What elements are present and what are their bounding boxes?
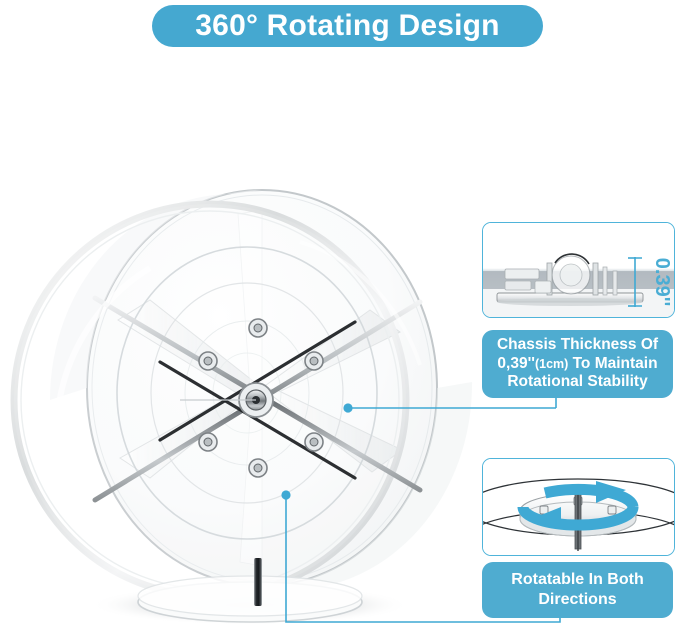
callout-chassis-line-3: Rotational Stability	[507, 373, 647, 390]
infographic-canvas: 360° Rotating Design	[0, 0, 679, 629]
callout-chassis-line-1: Chassis Thickness Of	[497, 336, 658, 353]
callout-chassis-thickness: Chassis Thickness Of 0,39''(1cm) To Main…	[482, 330, 673, 398]
inset-chassis-thickness-photo: 0.39''	[482, 222, 675, 318]
page-title: 360° Rotating Design	[195, 11, 499, 41]
callout-chassis-line-2-main: 0,39''	[497, 355, 535, 372]
callout-chassis-thickness-text: Chassis Thickness Of 0,39''(1cm) To Main…	[497, 336, 658, 393]
inset-rotation-direction-diagram	[482, 458, 675, 556]
callout-rotation-line-1: Rotatable In Both	[511, 571, 643, 588]
product-image	[0, 150, 480, 629]
title-banner: 360° Rotating Design	[152, 5, 543, 47]
callout-rotation-line-2: Directions	[538, 591, 616, 608]
dimension-label-0-39in: 0.39''	[651, 258, 673, 306]
callout-chassis-line-2-unit: (1cm)	[535, 357, 568, 371]
callout-rotatable-both-directions: Rotatable In Both Directions	[482, 562, 673, 618]
callout-chassis-line-2-rest: To Maintain	[568, 355, 657, 372]
callout-rotation-text: Rotatable In Both Directions	[511, 570, 643, 610]
